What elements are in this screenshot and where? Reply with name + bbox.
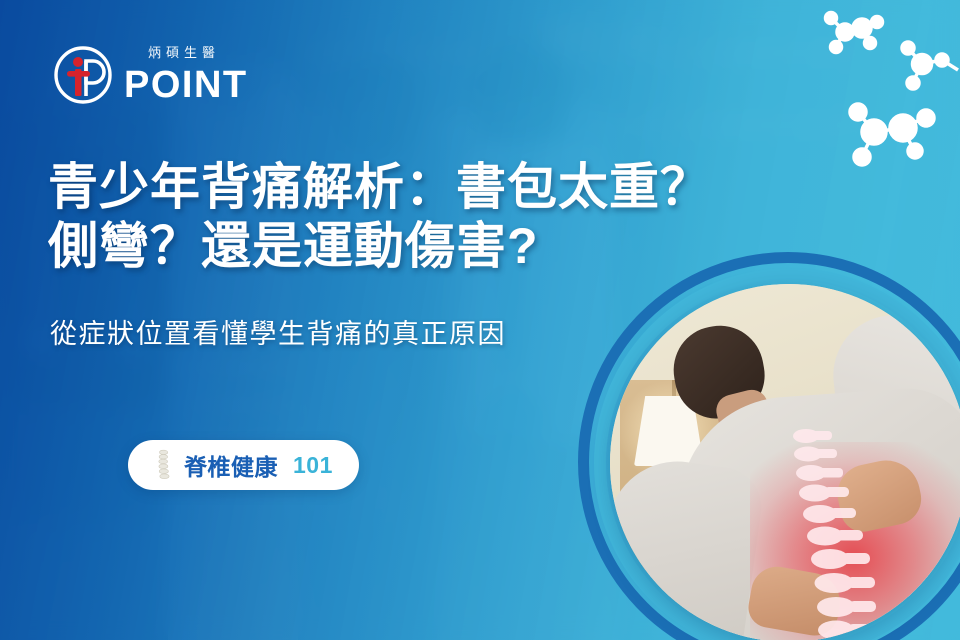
promo-banner: 炳碩生醫 POINT 青少年背痛解析：書包太重？ 側彎？還是運動傷害? 從症狀位… bbox=[0, 0, 960, 640]
spine-overlay-icon bbox=[762, 424, 882, 640]
back-pain-photo bbox=[610, 284, 960, 640]
photo-area bbox=[0, 0, 960, 640]
